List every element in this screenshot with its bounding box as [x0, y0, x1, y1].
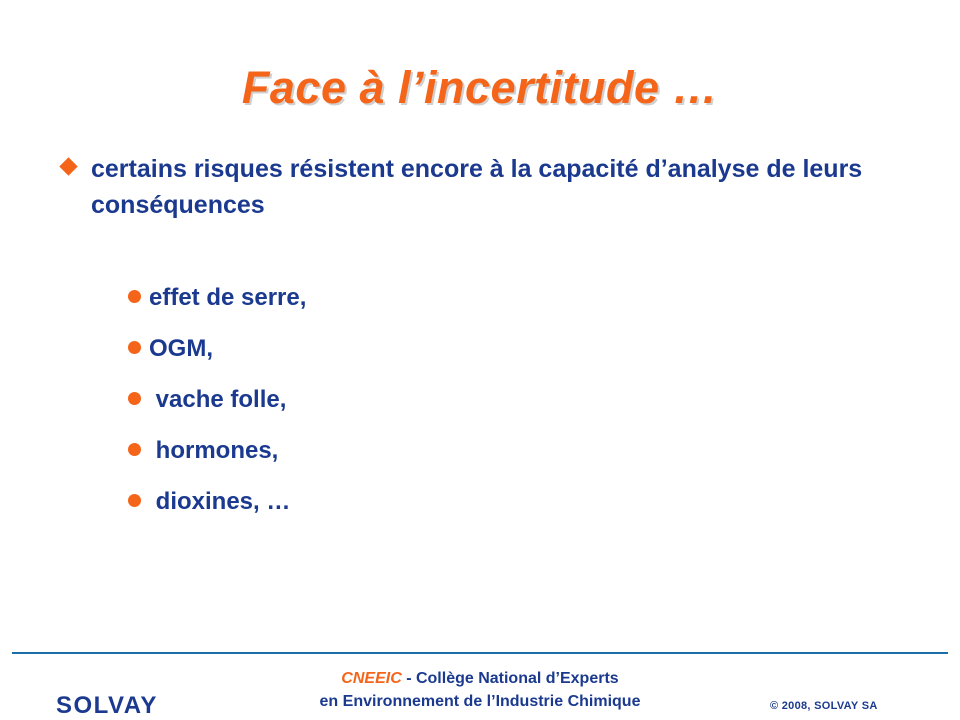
- level1-bullet-row: certains risques résistent encore à la c…: [62, 152, 912, 223]
- copyright-notice: © 2008, SOLVAY SA: [770, 700, 878, 712]
- level1-bullet-text: certains risques résistent encore à la c…: [91, 152, 881, 223]
- list-item: effet de serre,: [128, 284, 828, 316]
- slide-title: Face à l’incertitude …: [0, 62, 960, 114]
- list-item: hormones,: [128, 437, 828, 469]
- round-bullet-icon: [128, 494, 141, 507]
- footer-org-acronym: CNEEIC: [341, 670, 401, 687]
- level2-bullet-list: effet de serre, OGM, vache folle, hormon…: [128, 284, 828, 539]
- list-item-label: OGM,: [149, 335, 213, 363]
- list-item: OGM,: [128, 335, 828, 367]
- footer-organization-line1: CNEEIC - Collège National d’Experts: [230, 668, 730, 691]
- footer-organization: CNEEIC - Collège National d’Experts en E…: [230, 668, 730, 713]
- footer-org-dash: -: [402, 670, 416, 687]
- footer-organization-line2: en Environnement de l’Industrie Chimique: [230, 691, 730, 714]
- list-item-label: vache folle,: [149, 386, 286, 414]
- list-item-label: hormones,: [149, 437, 278, 465]
- solvay-logo: SOLVAY: [56, 692, 158, 720]
- list-item: vache folle,: [128, 386, 828, 418]
- list-item: dioxines, …: [128, 488, 828, 520]
- round-bullet-icon: [128, 443, 141, 456]
- footer-org-name: Collège National d’Experts: [416, 670, 619, 687]
- list-item-label: effet de serre,: [149, 284, 306, 312]
- round-bullet-icon: [128, 392, 141, 405]
- footer-divider: [12, 652, 948, 654]
- round-bullet-icon: [128, 290, 141, 303]
- list-item-label: dioxines, …: [149, 488, 290, 516]
- round-bullet-icon: [128, 341, 141, 354]
- slide: Face à l’incertitude … certains risques …: [0, 0, 960, 720]
- diamond-bullet-icon: [59, 157, 77, 175]
